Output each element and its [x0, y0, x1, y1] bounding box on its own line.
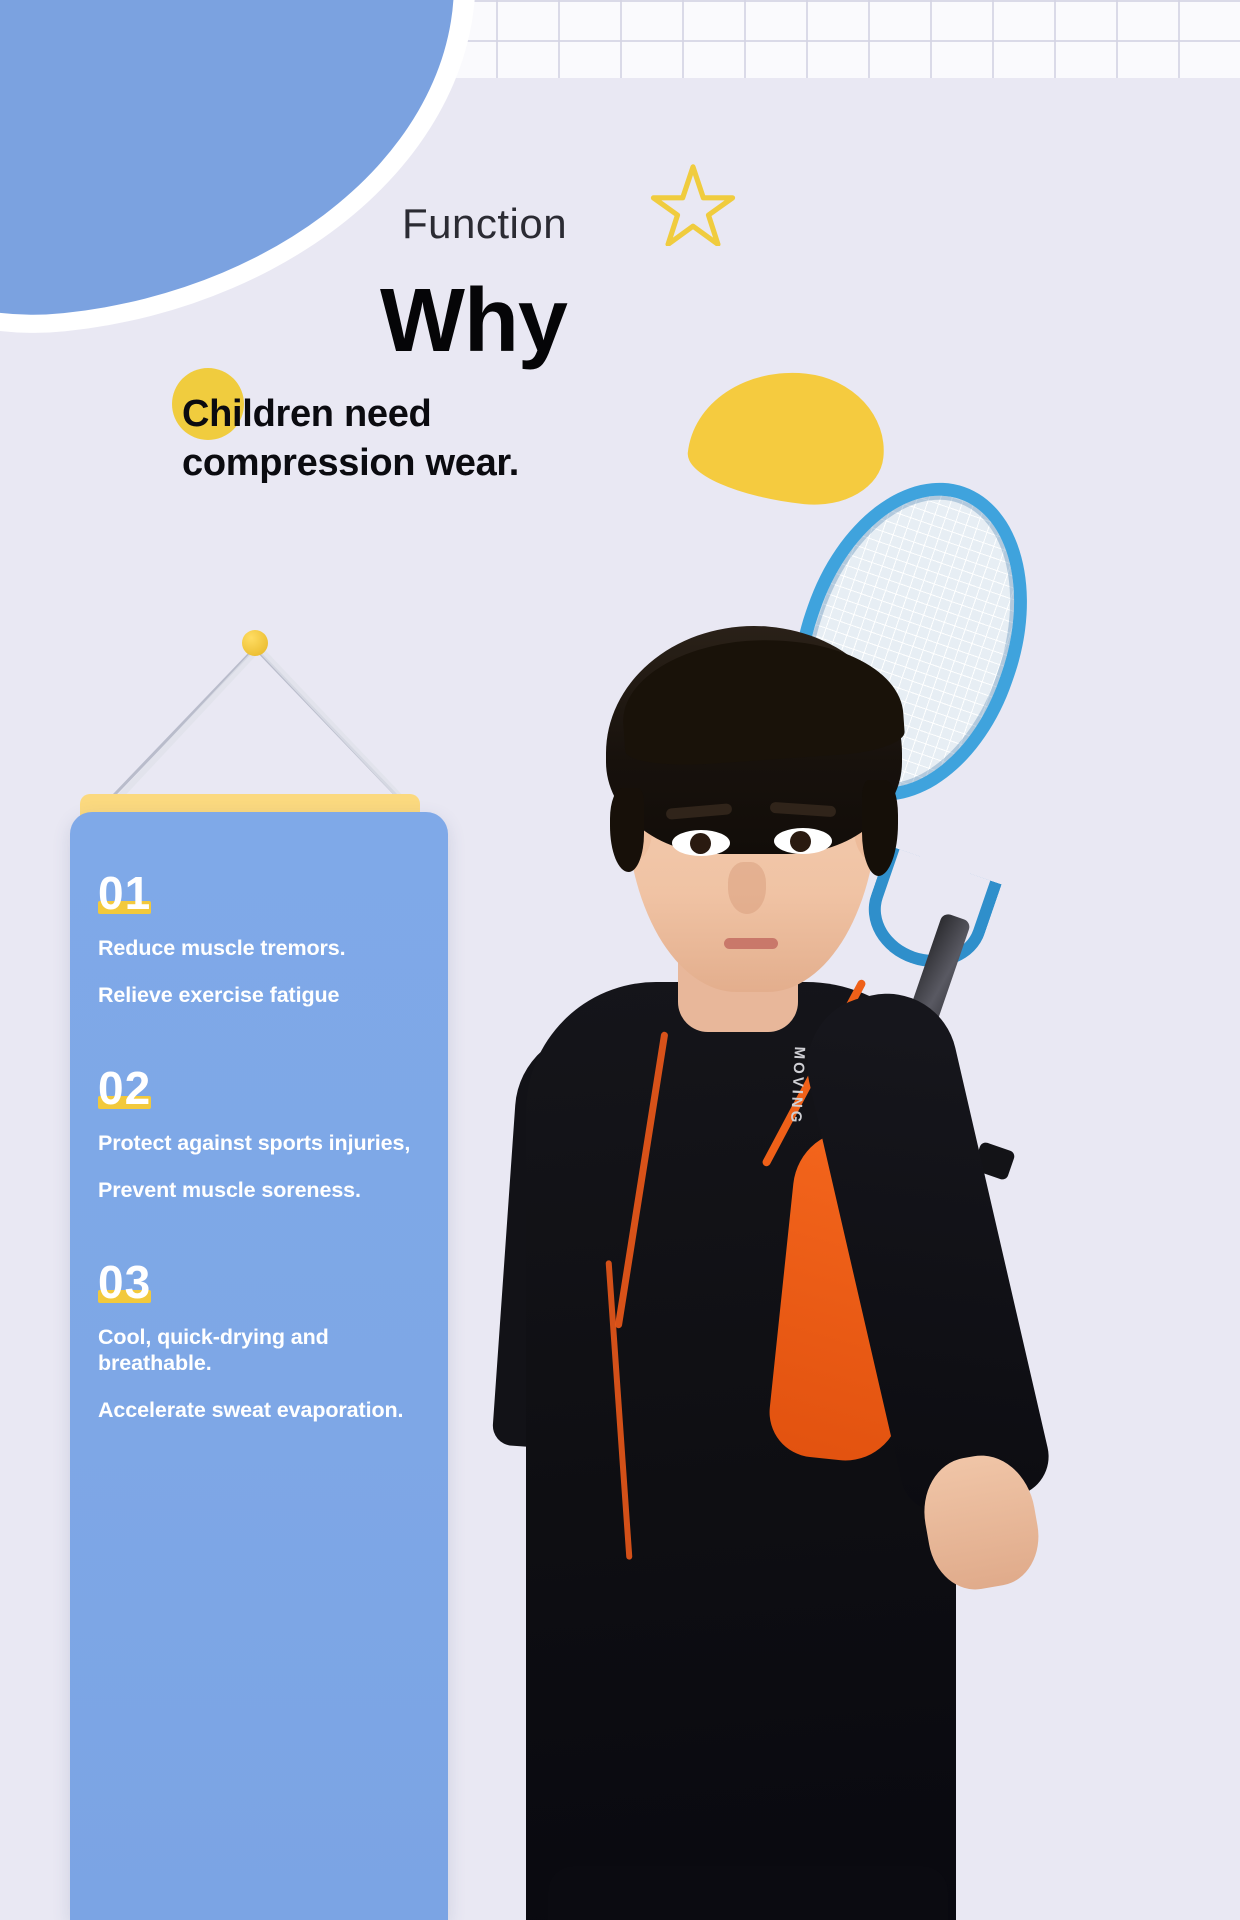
benefit-line: Cool, quick-drying and breathable. — [98, 1325, 422, 1376]
list-item: 01 Reduce muscle tremors. Relieve exerci… — [98, 870, 422, 1009]
benefit-line: Reduce muscle tremors. — [98, 936, 422, 961]
eyebrow-label: Function — [402, 200, 567, 248]
subheading-line-1: Children need — [182, 390, 519, 439]
benefit-line: Protect against sports injuries, — [98, 1131, 422, 1156]
benefit-line: Accelerate sweat evaporation. — [98, 1398, 422, 1423]
page-title: Why — [380, 276, 567, 366]
benefit-number: 02 — [98, 1065, 151, 1111]
benefit-number-wrap: 02 — [98, 1065, 151, 1111]
benefit-line: Prevent muscle soreness. — [98, 1178, 422, 1203]
benefit-number: 03 — [98, 1259, 151, 1305]
list-item: 02 Protect against sports injuries, Prev… — [98, 1065, 422, 1204]
hanger-knob — [242, 630, 268, 656]
shirt-brand-logo: MOVING — [763, 1029, 809, 1141]
benefit-line: Relieve exercise fatigue — [98, 983, 422, 1008]
list-item: 03 Cool, quick-drying and breathable. Ac… — [98, 1259, 422, 1423]
benefit-number-wrap: 03 — [98, 1259, 151, 1305]
product-feature-page: Function Why Children need compression w… — [0, 0, 1240, 1920]
shorts — [548, 1866, 948, 1920]
product-photo: MOVING — [430, 470, 1240, 1920]
nose — [728, 862, 766, 914]
benefit-number-wrap: 01 — [98, 870, 151, 916]
benefits-card: 01 Reduce muscle tremors. Relieve exerci… — [70, 812, 448, 1920]
right-eye — [774, 828, 832, 854]
mouth — [724, 938, 778, 949]
benefits-list: 01 Reduce muscle tremors. Relieve exerci… — [70, 812, 448, 1480]
left-eye — [672, 830, 730, 856]
hair-side-left — [610, 788, 644, 872]
star-icon — [650, 160, 736, 246]
benefit-number: 01 — [98, 870, 151, 916]
